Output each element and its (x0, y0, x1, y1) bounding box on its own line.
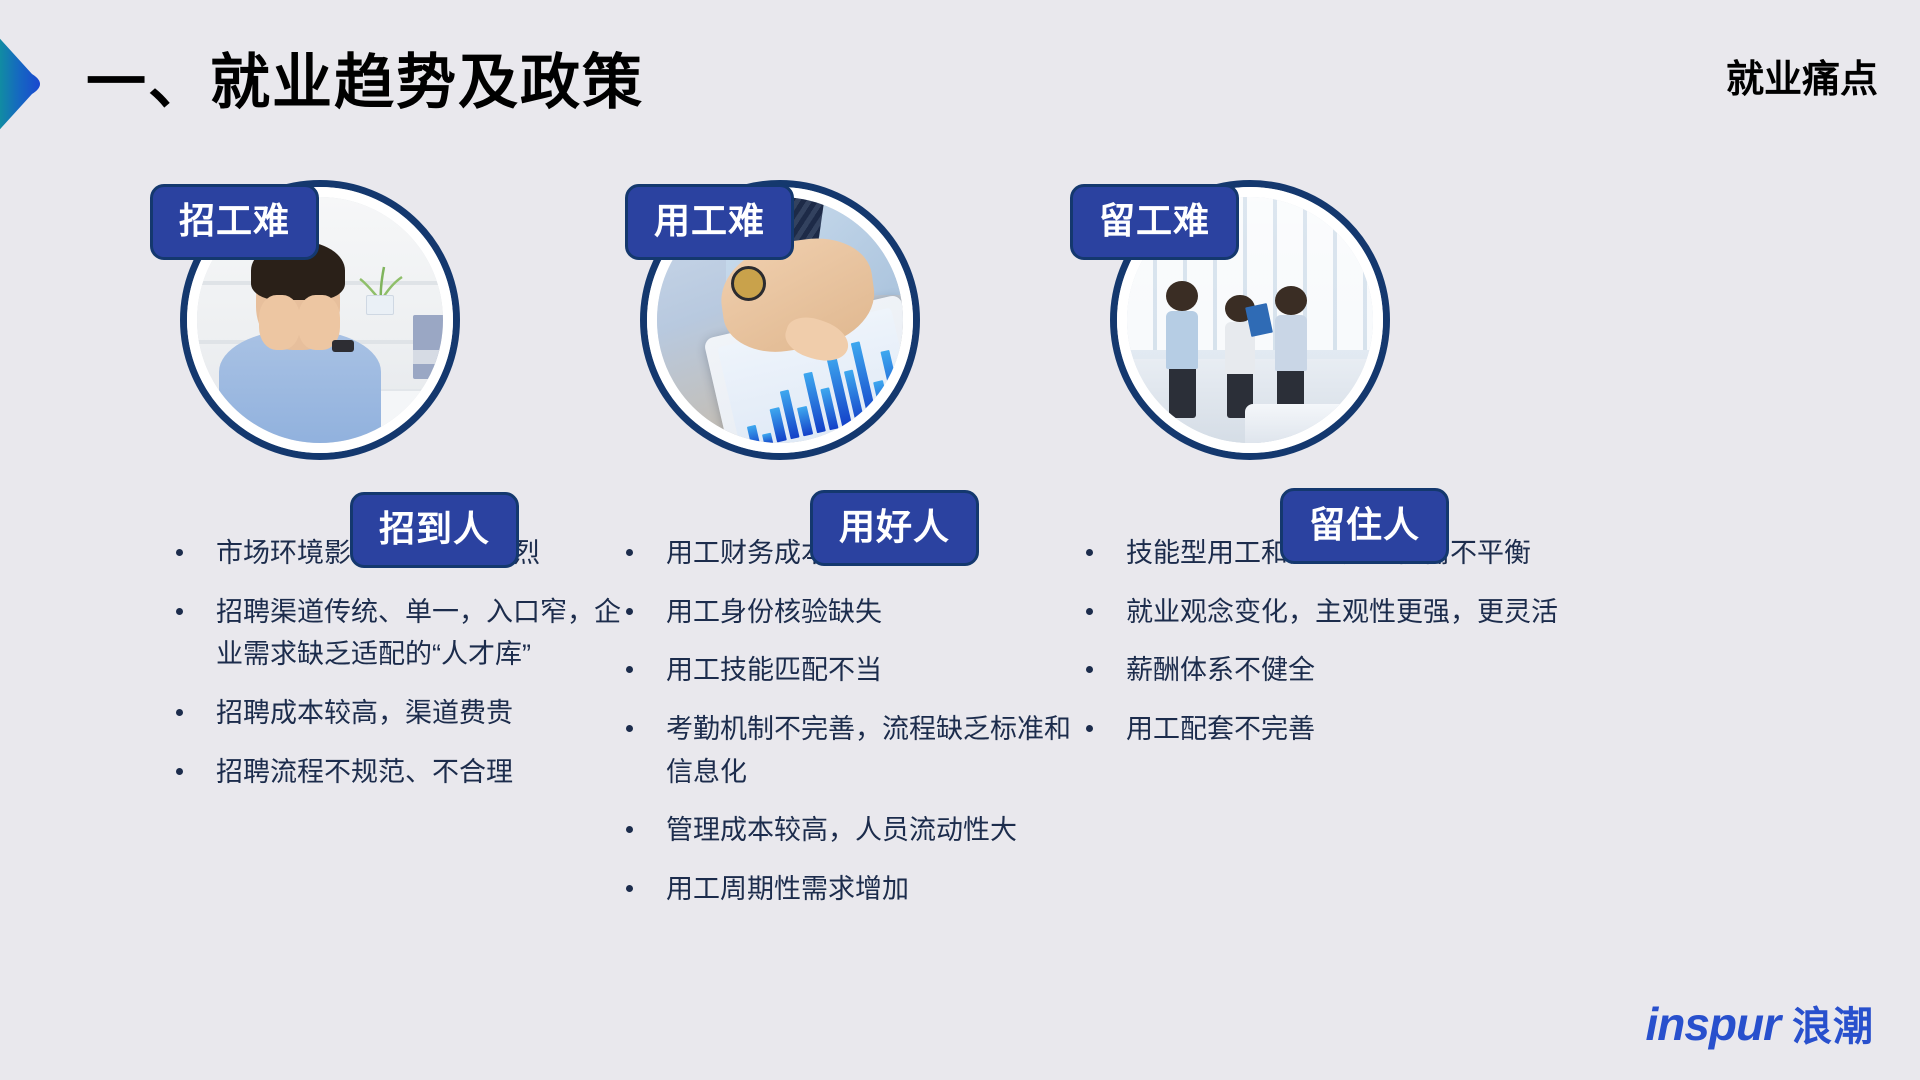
bullet-dot-icon (626, 549, 633, 556)
bullet-text: 管理成本较高，人员流动性大 (666, 815, 1017, 845)
card-1-bottom-badge[interactable]: 招到人 (350, 492, 519, 568)
bullet-dot-icon (1086, 666, 1093, 673)
bullet-text: 用工配套不完善 (1126, 714, 1315, 744)
bullet-dot-icon (176, 768, 183, 775)
list-item: 用工身份核验缺失 (610, 591, 1080, 634)
list-item: 招聘渠道传统、单一，入口窄，企业需求缺乏适配的“人才库” (160, 591, 630, 676)
bullet-text: 招聘成本较高，渠道费贵 (216, 698, 513, 728)
list-item: 用工周期性需求增加 (610, 868, 1080, 911)
bullet-text: 用工技能匹配不当 (666, 655, 882, 685)
pain-point-card-1: 招工难 招到人 市场环境影响人才竞争激烈 招聘渠道传统、单一，入口窄，企业需求缺… (150, 180, 650, 460)
card-3-bullet-list: 技能型用工和熟练用工供需不平衡 就业观念变化，主观性更强，更灵活 薪酬体系不健全… (1070, 532, 1630, 767)
card-2-bullet-list: 用工财务成本增加 用工身份核验缺失 用工技能匹配不当 考勤机制不完善，流程缺乏标… (610, 532, 1080, 927)
bullet-dot-icon (626, 826, 633, 833)
bullet-dot-icon (1086, 549, 1093, 556)
list-item: 就业观念变化，主观性更强，更灵活 (1070, 591, 1630, 634)
list-item: 招聘成本较高，渠道费贵 (160, 692, 630, 735)
bullet-text: 招聘流程不规范、不合理 (216, 757, 513, 787)
bullet-dot-icon (626, 885, 633, 892)
bullet-text: 用工周期性需求增加 (666, 874, 909, 904)
card-3-top-badge[interactable]: 留工难 (1070, 184, 1239, 260)
header-arrow-icon (0, 30, 58, 138)
bullet-dot-icon (626, 666, 633, 673)
list-item: 用工配套不完善 (1070, 708, 1630, 751)
logo-wordmark-cn: 浪潮 (1792, 994, 1874, 1052)
page-title: 一、就业趋势及政策 (86, 34, 644, 121)
list-item: 用工技能匹配不当 (610, 649, 1080, 692)
bullet-dot-icon (626, 608, 633, 615)
list-item: 考勤机制不完善，流程缺乏标准和信息化 (610, 708, 1080, 793)
bullet-text: 考勤机制不完善，流程缺乏标准和信息化 (666, 714, 1071, 787)
bullet-dot-icon (1086, 608, 1093, 615)
list-item: 薪酬体系不健全 (1070, 649, 1630, 692)
bullet-dot-icon (176, 608, 183, 615)
inspur-logo: inspur 浪潮 (1645, 994, 1874, 1052)
bullet-text: 用工身份核验缺失 (666, 597, 882, 627)
bullet-text: 就业观念变化，主观性更强，更灵活 (1126, 597, 1558, 627)
bullet-dot-icon (626, 725, 633, 732)
bullet-text: 薪酬体系不健全 (1126, 655, 1315, 685)
list-item: 管理成本较高，人员流动性大 (610, 809, 1080, 852)
card-2-bottom-badge[interactable]: 用好人 (810, 490, 979, 566)
list-item: 招聘流程不规范、不合理 (160, 751, 630, 794)
bullet-dot-icon (1086, 725, 1093, 732)
pain-point-card-2: 用工难 用好人 用工财务成本增加 用工身份核验缺失 用工技能匹配不当 考勤机制不… (610, 180, 1110, 460)
pain-point-card-3: 留工难 留住人 技能型用工和熟练用工供需不平衡 就业观念变化，主观性更强，更灵活… (1070, 180, 1630, 460)
card-1-bullet-list: 市场环境影响人才竞争激烈 招聘渠道传统、单一，入口窄，企业需求缺乏适配的“人才库… (160, 532, 630, 809)
bullet-dot-icon (176, 709, 183, 716)
card-2-top-badge[interactable]: 用工难 (625, 184, 794, 260)
card-3-bottom-badge[interactable]: 留住人 (1280, 488, 1449, 564)
bullet-text: 招聘渠道传统、单一，入口窄，企业需求缺乏适配的“人才库” (216, 597, 621, 670)
slide-root: 一、就业趋势及政策 就业痛点 (0, 0, 1920, 1080)
header-section-label: 就业痛点 (1726, 48, 1878, 103)
bullet-dot-icon (176, 549, 183, 556)
card-1-top-badge[interactable]: 招工难 (150, 184, 319, 260)
logo-wordmark-en: inspur (1645, 997, 1780, 1051)
